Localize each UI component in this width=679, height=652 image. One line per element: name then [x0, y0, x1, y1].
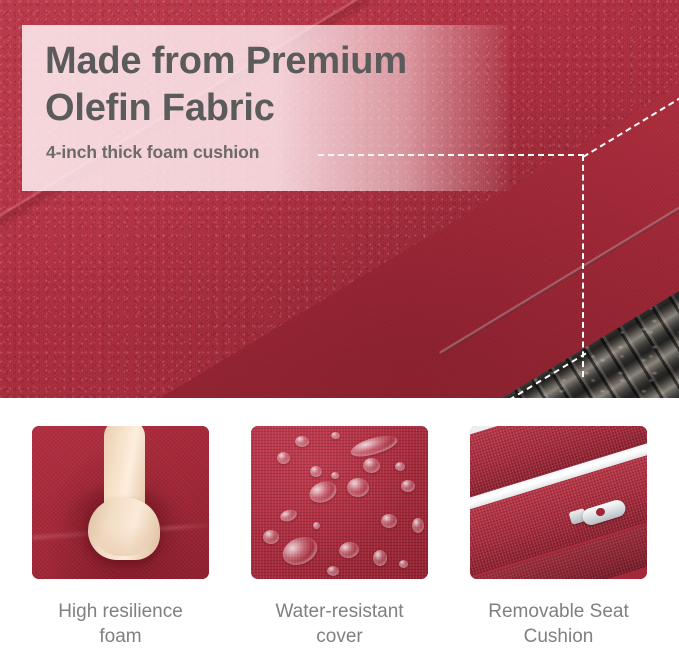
water-droplet — [395, 462, 405, 471]
hero-subline: 4-inch thick foam cushion — [46, 142, 259, 163]
hero-headline: Made from Premium Olefin Fabric — [45, 38, 515, 132]
water-droplet — [347, 478, 369, 497]
water-droplet — [381, 514, 397, 528]
water-droplet — [363, 458, 380, 473]
water-droplet — [399, 560, 408, 568]
feature-caption: High resilience foam — [58, 599, 183, 649]
feature-item-removable-seat-cushion: Removable Seat Cushion — [470, 426, 647, 652]
hero-product-photo: Made from Premium Olefin Fabric 4-inch t… — [0, 0, 679, 398]
feature-thumbnail-water-resistant — [251, 426, 428, 579]
water-droplet — [373, 550, 387, 566]
feature-thumbnail-zipper — [470, 426, 647, 579]
feature-strip: High resilience foam — [0, 398, 679, 652]
feature-item-water-resistant-cover: Water-resistant cover — [251, 426, 428, 652]
water-fabric-weave-texture — [251, 426, 428, 579]
water-droplet — [331, 472, 339, 479]
water-droplet — [331, 432, 340, 439]
water-droplet — [412, 518, 424, 533]
water-droplet — [263, 530, 279, 544]
feature-caption: Water-resistant cover — [275, 599, 403, 649]
feature-thumbnail-foam — [32, 426, 209, 579]
feature-item-high-resilience-foam: High resilience foam — [32, 426, 209, 652]
water-droplet — [401, 480, 415, 492]
water-droplet — [327, 566, 339, 576]
callout-dashed-vertical-line — [582, 155, 584, 377]
feature-caption: Removable Seat Cushion — [488, 599, 628, 649]
water-droplet — [295, 436, 309, 447]
water-droplet — [277, 452, 290, 464]
water-droplet — [310, 466, 322, 477]
water-droplet — [313, 522, 320, 529]
